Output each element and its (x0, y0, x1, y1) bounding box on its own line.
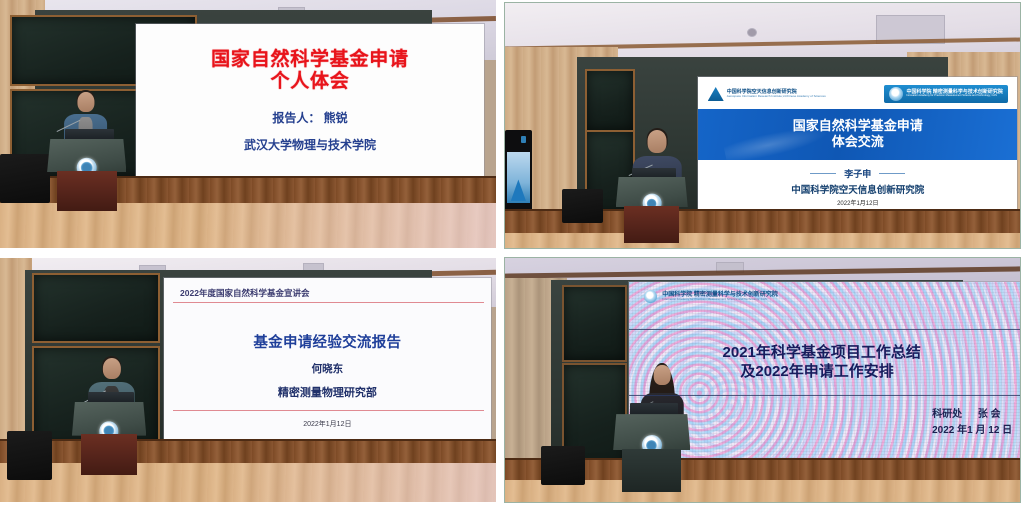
slide-title: 基金申请经验交流报告 (164, 331, 491, 352)
chalkboard-upper (585, 69, 635, 132)
loudspeaker (7, 431, 52, 480)
rule-right (879, 173, 905, 174)
slide-logo-en: Innovation Academy for Precision Measure… (662, 298, 778, 301)
projection-screen: 2022年度国家自然科学基金宣讲会 基金申请经验交流报告 何晓东 精密测量物理研… (164, 278, 491, 439)
podium (47, 139, 126, 211)
aircas-logo-en: Aerospace Information Research Institute… (727, 95, 826, 98)
slide-logo-row: 中国科学院 精密测量科学与技术创新研究院 Innovation Academy … (644, 290, 778, 303)
slide-department: 科研处 (932, 409, 962, 420)
slide-content: 2022年度国家自然科学基金宣讲会 基金申请经验交流报告 何晓东 精密测量物理研… (164, 278, 491, 439)
photo-collage: 国家自然科学基金申请 个人体会 报告人： 熊锐 武汉大学物理与技术学院 (0, 0, 1025, 512)
podium-body (622, 449, 681, 493)
slide-presenter-name: 李子申 (844, 167, 871, 180)
floor-highlight (223, 463, 496, 502)
slide-content: 国家自然科学基金申请 个人体会 报告人： 熊锐 武汉大学物理与技术学院 (136, 24, 483, 180)
chalkboard-upper (32, 273, 160, 343)
slide-title-line1: 国家自然科学基金申请 (793, 118, 923, 134)
slide-header: 2022年度国家自然科学基金宣讲会 (180, 287, 309, 299)
slide-meta: 科研处 张 会 2022 年1 月 12 日 (932, 407, 1012, 438)
kiosk-screen (507, 152, 531, 203)
head (102, 358, 120, 379)
slide-date: 2022年1月12日 (837, 198, 878, 207)
slide-rule-top (629, 329, 1020, 330)
panel-bottom-left: 2022年度国家自然科学基金宣讲会 基金申请经验交流报告 何晓东 精密测量物理研… (0, 258, 496, 502)
projection-screen: 国家自然科学基金申请 个人体会 报告人： 熊锐 武汉大学物理与技术学院 (136, 24, 483, 180)
slide-presenter-name: 何晓东 (164, 361, 491, 376)
panel-top-left: 国家自然科学基金申请 个人体会 报告人： 熊锐 武汉大学物理与技术学院 (0, 0, 496, 248)
slide-content: 中国科学院空天信息创新研究院 Aerospace Information Res… (698, 77, 1017, 212)
slide-title-line1: 2021年科学基金项目工作总结 (723, 343, 1020, 362)
slide-rule-bottom (629, 395, 1020, 396)
aircas-mark-icon (708, 87, 724, 101)
panel-top-right: 中国科学院空天信息创新研究院 Aerospace Information Res… (505, 3, 1020, 248)
slide-title-banner: 国家自然科学基金申请 体会交流 (698, 109, 1017, 160)
chalkboard-upper (562, 285, 628, 362)
slide-title-line2: 及2022年申请工作安排 (740, 362, 1020, 381)
ceiling-smoke-detector-icon (747, 28, 757, 37)
slide-affiliation: 中国科学院空天信息创新研究院 (791, 182, 924, 196)
rule-left (810, 173, 836, 174)
slide-title-line2: 体会交流 (832, 134, 884, 150)
loudspeaker (541, 446, 585, 485)
slide-presenter: 报告人： 熊锐 (136, 109, 483, 126)
slide-title-line1: 国家自然科学基金申请 (136, 49, 483, 71)
cas-mark-icon (644, 290, 657, 303)
head (647, 130, 666, 152)
kiosk-status-icon (521, 136, 526, 143)
podium (613, 414, 690, 492)
head (77, 92, 94, 112)
slide-footer: 李子申 中国科学院空天信息创新研究院 2022年1月12日 (698, 163, 1017, 212)
slide-department: 精密测量物理研究部 (164, 384, 491, 400)
projection-screen: 中国科学院空天信息创新研究院 Aerospace Information Res… (698, 77, 1017, 212)
podium (72, 402, 146, 475)
slide-date: 2022 年1 月 12 日 (932, 423, 1012, 439)
floor-highlight (198, 203, 496, 248)
loudspeaker (0, 154, 50, 204)
apm-mark-icon (889, 87, 903, 101)
slide-logo-row: 中国科学院空天信息创新研究院 Aerospace Information Res… (698, 81, 1017, 108)
slide-title-line2: 个人体会 (136, 71, 483, 93)
loudspeaker (562, 189, 603, 223)
apm-logo: 中国科学院 精密测量科学与技术创新研究院 Innovation Academy … (884, 85, 1007, 103)
presenter-row: 李子申 (810, 167, 905, 180)
panel-bottom-right: 中国科学院 精密测量科学与技术创新研究院 Innovation Academy … (505, 258, 1020, 502)
slide-rule-top (173, 302, 484, 303)
podium (616, 177, 688, 243)
stage-floor (505, 233, 1020, 248)
aircas-logo: 中国科学院空天信息创新研究院 Aerospace Information Res… (708, 87, 826, 101)
slide-date: 2022年1月12日 (164, 419, 491, 429)
podium-body (624, 206, 679, 243)
slide-rule-bottom (173, 410, 484, 411)
head (654, 365, 671, 385)
slide-affiliation: 武汉大学物理与技术学院 (136, 136, 483, 153)
podium-body (57, 171, 117, 211)
podium-body (81, 434, 138, 475)
apm-logo-en: Innovation Academy for Precision Measure… (906, 95, 1002, 98)
slide-presenter-name: 张 会 (978, 409, 1001, 420)
